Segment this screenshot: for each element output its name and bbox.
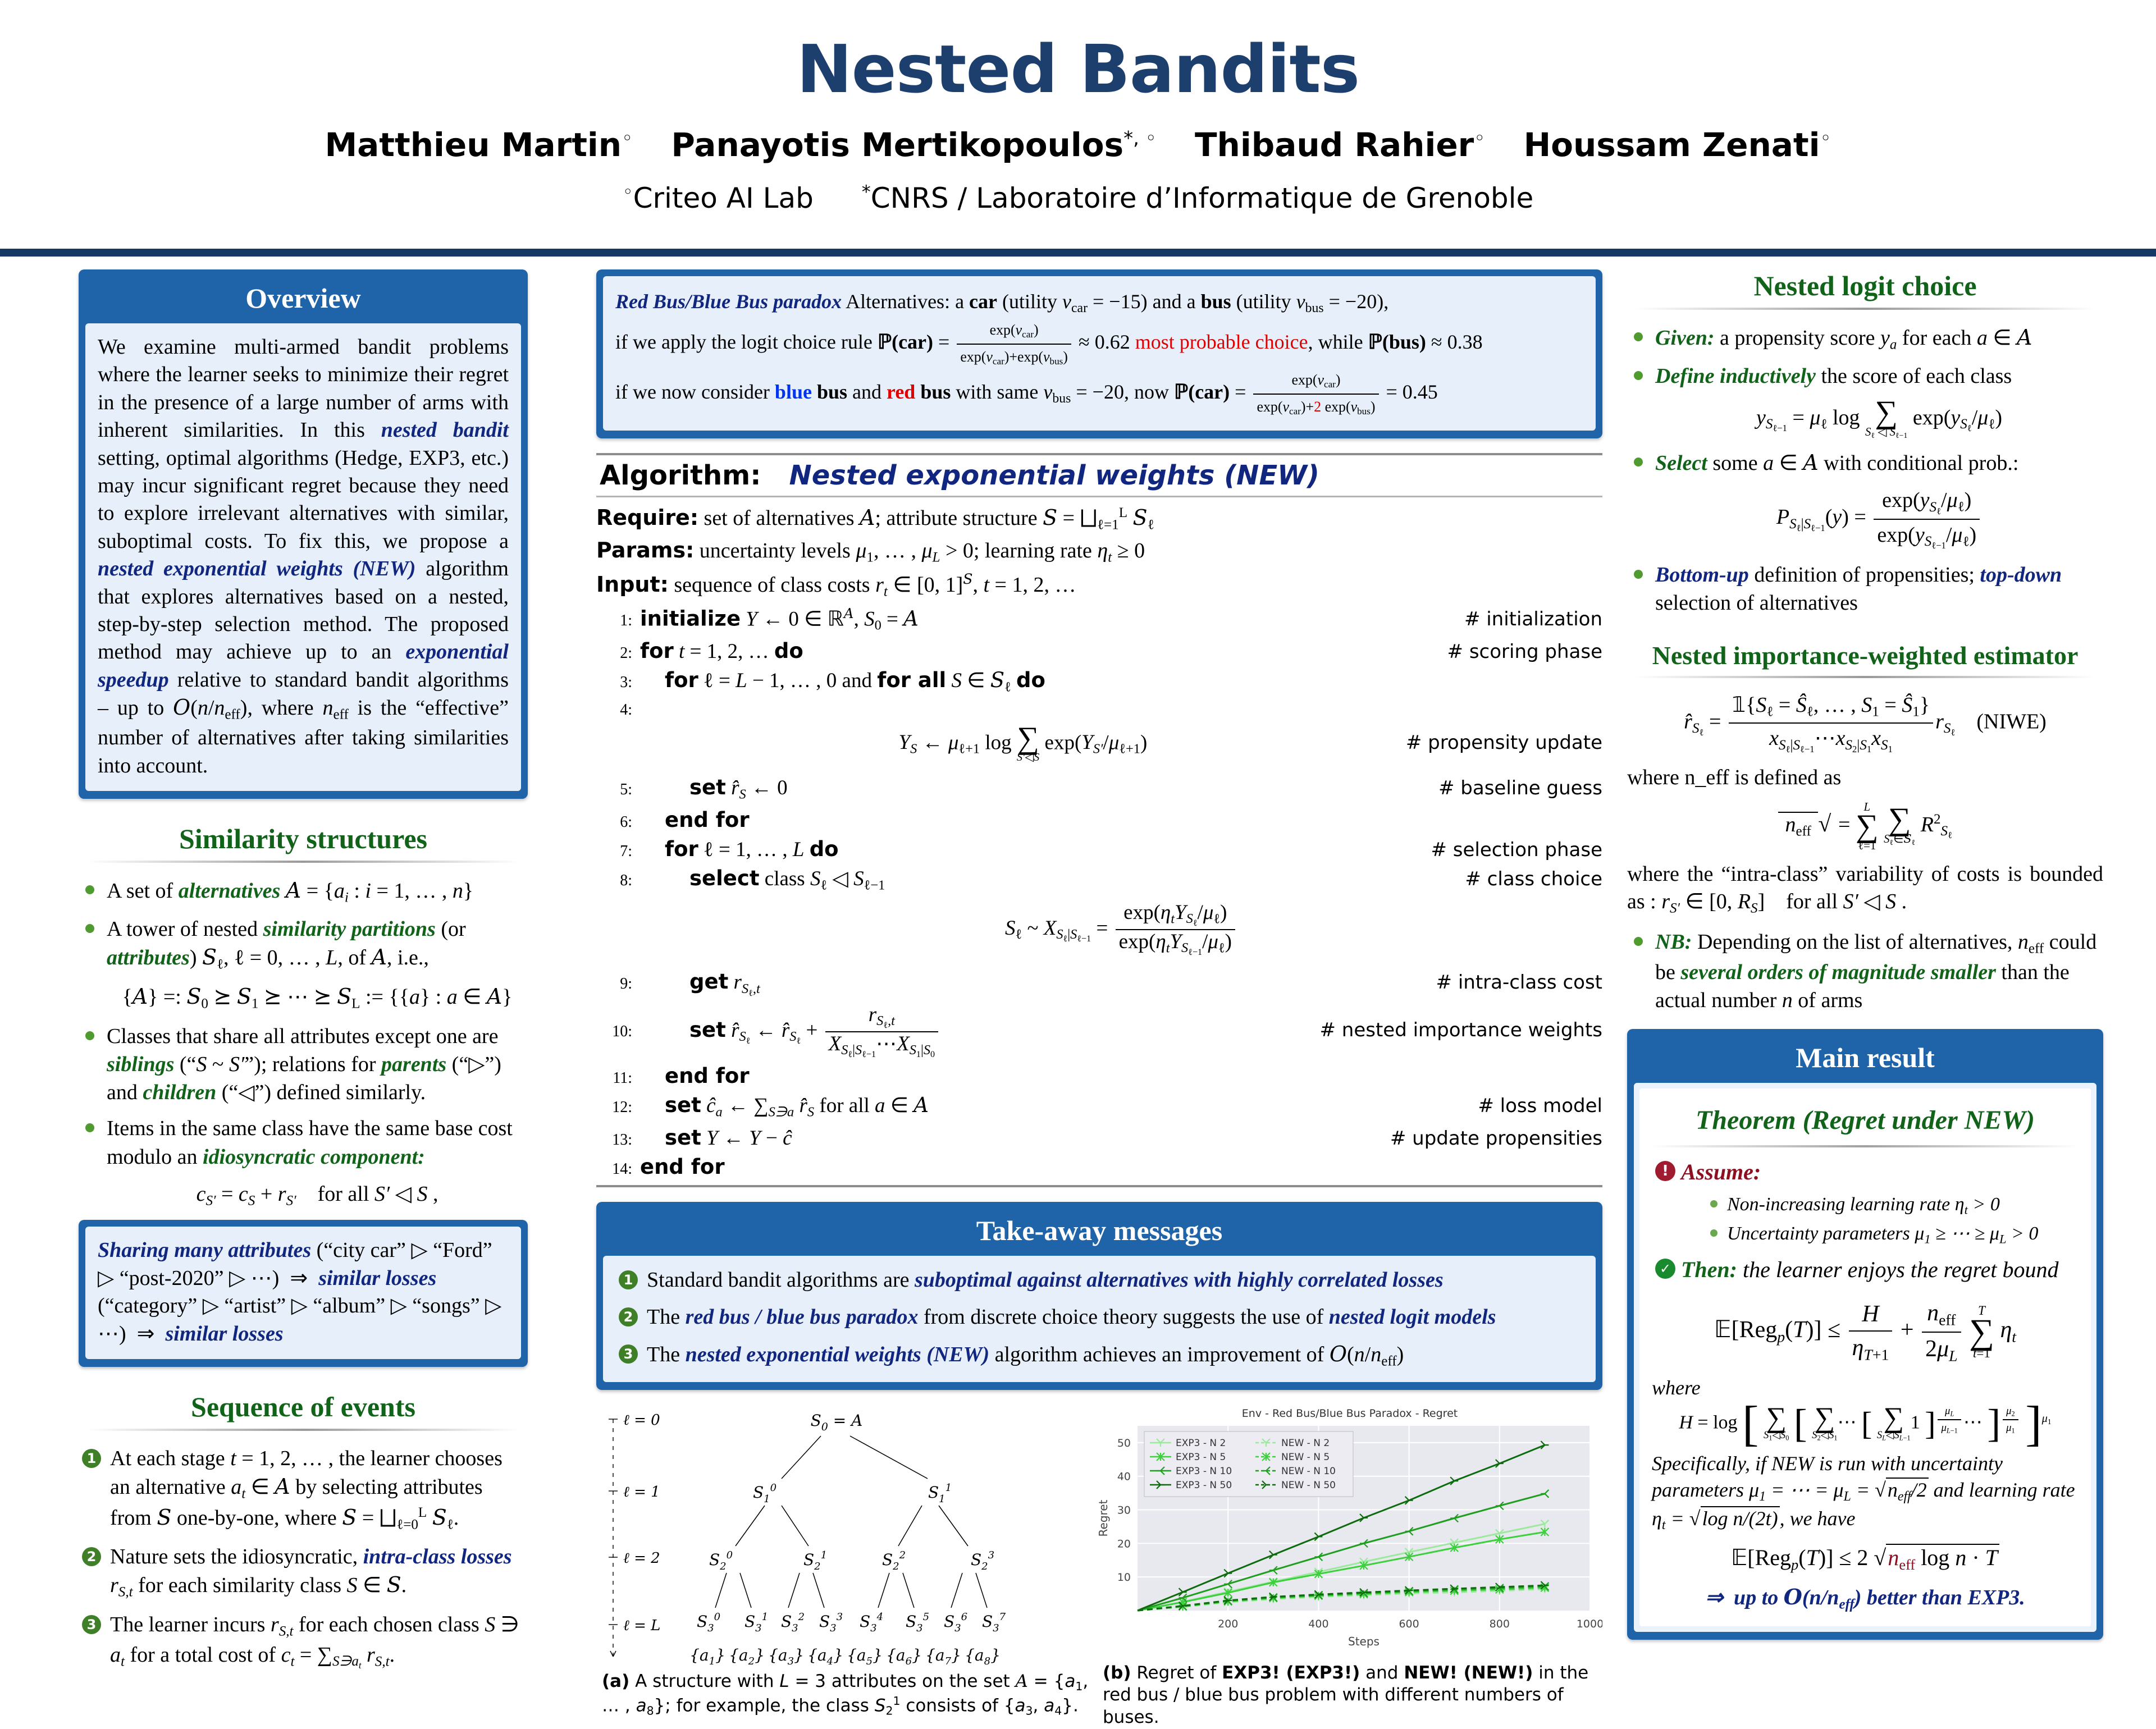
overview-panel: Overview We examine multi-armed bandit p… <box>79 269 528 799</box>
check-icon: ✓ <box>1655 1259 1675 1279</box>
svg-text:1000: 1000 <box>1577 1618 1602 1630</box>
poster-header: Nested Bandits Matthieu Martin◦ Panayoti… <box>0 0 2156 214</box>
svg-text:{a3}: {a3} <box>768 1646 804 1667</box>
list-item: 1 At each stage t = 1, 2, … , the learne… <box>79 1444 528 1534</box>
section-divider <box>86 861 520 863</box>
equation-H: H = log [ ∑S1◁S0 [ ∑S2◁S1⋯ [ ∑SL◁SL−11 ]… <box>1652 1405 2079 1442</box>
svg-text:ℓ = 0: ℓ = 0 <box>623 1412 660 1429</box>
svg-text:S37: S37 <box>982 1611 1006 1634</box>
figures-row: ℓ = 0 ℓ = 1 ℓ = 2 ℓ = L <box>596 1407 1602 1729</box>
algorithm-line: 13:set Y ← Y − ĉ# update propensities <box>596 1123 1602 1152</box>
overview-heading: Overview <box>85 276 521 323</box>
figure-b-caption: (b) Regret of EXP3! (EXP3!) and NEW! (NE… <box>1097 1662 1602 1729</box>
algorithm-panel: Algorithm: Nested exponential weights (N… <box>596 453 1602 1187</box>
regret-chart-svg: 10203040502004006008001000Env - Red Bus/… <box>1097 1407 1602 1662</box>
svg-text:Steps: Steps <box>1348 1635 1380 1648</box>
algorithm-line: 14:end for <box>596 1152 1602 1182</box>
right-column: Nested logit choice Given: a propensity … <box>1627 269 2103 1640</box>
step-number-badge: 2 <box>82 1547 101 1566</box>
list-item: A set of alternatives A = {ai : i = 1, …… <box>79 876 528 907</box>
svg-text:40: 40 <box>1117 1470 1131 1483</box>
svg-text:S36: S36 <box>944 1611 967 1634</box>
tree-diagram: ℓ = 0 ℓ = 1 ℓ = 2 ℓ = L <box>596 1407 1097 1671</box>
equation-cost: cS′ = cS + rS′ for all S′ ◁ S , <box>107 1180 528 1210</box>
algorithm-line: 6:end for <box>596 806 1602 835</box>
section-divider <box>1635 308 2095 310</box>
step-number-badge: 3 <box>619 1344 638 1364</box>
algorithm-line: 1:initialize Y ← 0 ∈ ℝA, S0 = A# initial… <box>596 603 1602 637</box>
svg-text:10: 10 <box>1117 1571 1131 1584</box>
left-column: Overview We examine multi-armed bandit p… <box>79 269 528 1681</box>
author-3: Houssam Zenati◦ <box>1524 126 1831 164</box>
then-row: ✓ Then: the learner enjoys the regret bo… <box>1652 1255 2079 1284</box>
author-list: Matthieu Martin◦ Panayotis Mertikopoulos… <box>0 126 2156 164</box>
svg-text:S30: S30 <box>697 1611 720 1634</box>
list-item: 3 The learner incurs rS,t for each chose… <box>79 1611 528 1672</box>
equation-tower: {A} =: S0 ⪰ S1 ⪰ ⋯ ⪰ SL := {{a} : a ∈ A} <box>107 982 528 1013</box>
affiliation-0: ◦Criteo AI Lab <box>623 182 814 214</box>
assume-row: ! Assume: <box>1652 1158 2079 1187</box>
svg-text:S20: S20 <box>709 1549 733 1572</box>
affiliation-list: ◦Criteo AI Lab *CNRS / Laboratoire d’Inf… <box>0 181 2156 214</box>
paradox-panel: Red Bus/Blue Bus paradox Alternatives: a… <box>596 269 1602 438</box>
svg-text:{a7}: {a7} <box>925 1646 961 1667</box>
algorithm-params: Params: uncertainty levels μ1, … , μL > … <box>596 536 1602 569</box>
svg-text:S22: S22 <box>882 1549 906 1572</box>
svg-text:S0 = A: S0 = A <box>811 1411 863 1433</box>
sequence-list: 1 At each stage t = 1, 2, … , the learne… <box>79 1444 528 1672</box>
list-item: Select some a ∈ A with conditional prob.… <box>1627 449 2103 552</box>
author-0: Matthieu Martin◦ <box>325 126 633 164</box>
algorithm-line: 5:set r̂S ← 0# baseline guess <box>596 773 1602 806</box>
logit-list: Given: a propensity score ya for each a … <box>1627 323 2103 617</box>
equation-niwe: r̂Sℓ = 𝟙{Sℓ = Ŝℓ, … , S1 = Ŝ1}xSℓ|Sℓ−1… <box>1627 692 2103 755</box>
svg-text:50: 50 <box>1117 1437 1131 1449</box>
svg-text:{a4}: {a4} <box>807 1646 843 1667</box>
svg-text:S10: S10 <box>753 1482 776 1505</box>
theorem-title: Theorem (Regret under NEW) <box>1652 1096 2079 1141</box>
affiliation-1: *CNRS / Laboratoire d’Informatique de Gr… <box>862 182 1534 214</box>
svg-text:S35: S35 <box>906 1611 929 1634</box>
svg-text:S33: S33 <box>819 1611 843 1634</box>
svg-text:S11: S11 <box>928 1482 952 1505</box>
figure-a: ℓ = 0 ℓ = 1 ℓ = 2 ℓ = L <box>596 1407 1097 1729</box>
list-item: Define inductively the score of each cla… <box>1627 362 2103 440</box>
algorithm-title: Algorithm: Nested exponential weights (N… <box>596 455 1602 496</box>
svg-text:S23: S23 <box>971 1549 994 1572</box>
step-number-badge: 1 <box>82 1449 101 1468</box>
equation-conditional-prob: PSℓ|Sℓ−1(y) = exp(ySℓ/μℓ)exp(ySℓ−1/μℓ) <box>1655 486 2103 552</box>
svg-text:200: 200 <box>1218 1618 1238 1630</box>
algorithm-line: 2:for t = 1, 2, … do# scoring phase <box>596 637 1602 666</box>
equation-neff: neff √ = L∑ℓ=1 ∑Sℓ∈Sℓ R2Sℓ <box>1627 801 2103 852</box>
svg-text:{a6}: {a6} <box>886 1646 922 1667</box>
svg-text:400: 400 <box>1308 1618 1328 1630</box>
step-number-badge: 2 <box>619 1307 638 1327</box>
main-result-panel: Main result Theorem (Regret under NEW) !… <box>1627 1029 2103 1640</box>
niwe-body: r̂Sℓ = 𝟙{Sℓ = Ŝℓ, … , S1 = Ŝ1}xSℓ|Sℓ−1… <box>1627 692 2103 1014</box>
svg-text:{a8}: {a8} <box>965 1646 1001 1667</box>
algorithm-line: 8:select class Sℓ ◁ Sℓ−1# class choice <box>596 864 1602 896</box>
svg-text:NEW - N 50: NEW - N 50 <box>1281 1480 1336 1491</box>
section-divider <box>1652 1145 2079 1147</box>
list-item: A tower of nested similarity partitions … <box>79 915 528 1013</box>
svg-text:S21: S21 <box>803 1549 827 1572</box>
niwe-nb-list: NB: Depending on the list of alternative… <box>1627 928 2103 1014</box>
where-label: where <box>1652 1375 2079 1401</box>
svg-text:Env - Red Bus/Blue Bus Paradox: Env - Red Bus/Blue Bus Paradox - Regret <box>1242 1407 1458 1420</box>
list-item: Non-increasing learning rate ηt > 0 <box>1706 1192 2079 1218</box>
algorithm-line: 10: set r̂Sℓ ← r̂Sℓ + rSℓ,tXSℓ|Sℓ−1⋯XS1|… <box>596 1002 1602 1062</box>
svg-text:NEW - N 5: NEW - N 5 <box>1281 1452 1330 1463</box>
svg-text:20: 20 <box>1117 1538 1131 1550</box>
logit-heading: Nested logit choice <box>1627 269 2103 302</box>
similarity-heading: Similarity structures <box>79 822 528 855</box>
equation-regret-bound-1: 𝔼[Regp(T)] ≤ HηT+1 + neff2μL T∑t=1 ηt <box>1652 1298 2079 1366</box>
list-item: Uncertainty parameters μ1 ≥ ⋯ ≥ μL > 0 <box>1706 1222 2079 1247</box>
list-item: 2 Nature sets the idiosyncratic, intra-c… <box>79 1543 528 1602</box>
algorithm-line: 11:end for <box>596 1062 1602 1091</box>
svg-text:S31: S31 <box>744 1611 768 1634</box>
svg-text:ℓ = 2: ℓ = 2 <box>623 1550 660 1567</box>
sharing-attributes-panel: Sharing many attributes (“city car” ▷ “F… <box>79 1220 528 1367</box>
figure-a-caption: (a) A structure with L = 3 attributes on… <box>596 1671 1097 1718</box>
tree-svg: ℓ = 0 ℓ = 1 ℓ = 2 ℓ = L <box>596 1407 1090 1671</box>
theorem-box: Theorem (Regret under NEW) ! Assume: Non… <box>1639 1088 2091 1626</box>
main-result-heading: Main result <box>1634 1036 2096 1083</box>
middle-column: Red Bus/Blue Bus paradox Alternatives: a… <box>596 269 1602 1729</box>
takeaway-panel: Take-away messages 1Standard bandit algo… <box>596 1202 1602 1390</box>
svg-text:Regret: Regret <box>1097 1499 1110 1536</box>
svg-text:S34: S34 <box>860 1611 883 1634</box>
figure-b: 10203040502004006008001000Env - Red Bus/… <box>1097 1407 1602 1729</box>
step-number-badge: 1 <box>619 1270 638 1289</box>
svg-text:EXP3 - N 2: EXP3 - N 2 <box>1176 1438 1226 1449</box>
takeaway-heading: Take-away messages <box>603 1209 1596 1256</box>
list-item: Given: a propensity score ya for each a … <box>1627 323 2103 354</box>
equation-class-score: ySℓ−1 = μℓ log ∑Sℓ ◁ Sℓ−1 exp(ySℓ/μℓ) <box>1655 399 2103 440</box>
svg-text:NEW - N 2: NEW - N 2 <box>1281 1438 1330 1449</box>
alert-icon: ! <box>1655 1161 1675 1181</box>
list-item: Bottom-up definition of propensities; to… <box>1627 561 2103 617</box>
equation-regret-bound-2: 𝔼[Regp(T)] ≤ 2 √neff log n · T <box>1652 1543 2079 1574</box>
similarity-list: A set of alternatives A = {ai : i = 1, …… <box>79 876 528 1210</box>
page-title: Nested Bandits <box>0 0 2156 104</box>
svg-text:600: 600 <box>1399 1618 1419 1630</box>
algorithm-line: 9:get rSℓ,t# intra-class cost <box>596 967 1602 1001</box>
svg-text:S32: S32 <box>781 1611 805 1634</box>
svg-text:EXP3 - N 10: EXP3 - N 10 <box>1176 1466 1232 1477</box>
header-divider <box>0 249 2156 257</box>
assume-list: Non-increasing learning rate ηt > 0 Unce… <box>1706 1192 2079 1247</box>
list-item: 1Standard bandit algorithms are suboptim… <box>615 1266 1583 1294</box>
svg-text:EXP3 - N 50: EXP3 - N 50 <box>1176 1480 1232 1491</box>
takeaway-body: 1Standard bandit algorithms are suboptim… <box>603 1256 1596 1382</box>
algorithm-body: Require: set of alternatives A; attribut… <box>596 497 1602 1182</box>
author-1: Panayotis Mertikopoulos*, ◦ <box>671 126 1156 164</box>
algorithm-equation-4: YS ← μℓ+1 log ∑S′◁S exp(YS′/μℓ+1) # prop… <box>596 722 1602 774</box>
conclusion-text: ⇒ up to O(n/neff) better than EXP3. <box>1652 1583 2079 1614</box>
svg-text:ℓ = 1: ℓ = 1 <box>623 1484 660 1501</box>
specific-text: Specifically, if NEW is run with uncerta… <box>1652 1451 2079 1534</box>
overview-body: We examine multi-armed bandit problems w… <box>85 323 521 791</box>
author-2: Thibaud Rahier◦ <box>1195 126 1485 164</box>
algorithm-bottom-rule <box>596 1185 1602 1187</box>
section-divider <box>1635 676 2095 678</box>
svg-text:{a1}: {a1} <box>689 1646 725 1667</box>
svg-text:{a2}: {a2} <box>729 1646 765 1667</box>
sharing-attributes-body: Sharing many attributes (“city car” ▷ “F… <box>85 1227 521 1359</box>
sequence-heading: Sequence of events <box>79 1390 528 1423</box>
main-result-body: Theorem (Regret under NEW) ! Assume: Non… <box>1634 1083 2096 1632</box>
svg-text:ℓ = L: ℓ = L <box>623 1617 660 1634</box>
svg-text:NEW - N 10: NEW - N 10 <box>1281 1466 1336 1477</box>
algorithm-line: 3:for ℓ = L − 1, … , 0 and for all S ∈ S… <box>596 666 1602 698</box>
algorithm-input: Input: sequence of class costs rt ∈ [0, … <box>596 568 1602 602</box>
algorithm-equation-8: Sℓ ~ XSℓ|Sℓ−1 = exp(ηtYSℓ/μℓ)exp(ηtYSℓ−1… <box>596 896 1602 968</box>
algorithm-require: Require: set of alternatives A; attribut… <box>596 502 1602 536</box>
paradox-body: Red Bus/Blue Bus paradox Alternatives: a… <box>603 276 1596 431</box>
niwe-where-2: where the “intra-class” variability of c… <box>1627 861 2103 918</box>
algorithm-line: 12:set ĉa ← ∑S∋a r̂S for all a ∈ A# los… <box>596 1091 1602 1123</box>
step-number-badge: 3 <box>82 1615 101 1634</box>
svg-text:{a5}: {a5} <box>847 1646 883 1667</box>
list-item: NB: Depending on the list of alternative… <box>1627 928 2103 1014</box>
svg-text:30: 30 <box>1117 1504 1131 1516</box>
algorithm-line: 4: <box>596 698 1602 722</box>
list-item: 3The nested exponential weights (NEW) al… <box>615 1340 1583 1371</box>
list-item: Items in the same class have the same ba… <box>79 1114 528 1210</box>
svg-text:EXP3 - N 5: EXP3 - N 5 <box>1176 1452 1226 1463</box>
section-divider <box>86 1429 520 1431</box>
niwe-where-1: where n_eff is defined as <box>1627 764 2103 792</box>
niwe-heading: Nested importance-weighted estimator <box>1627 641 2103 670</box>
regret-chart: 10203040502004006008001000Env - Red Bus/… <box>1097 1407 1602 1662</box>
list-item: 2The red bus / blue bus paradox from dis… <box>615 1303 1583 1331</box>
algorithm-line: 7:for ℓ = 1, … , L do# selection phase <box>596 835 1602 864</box>
svg-text:800: 800 <box>1490 1618 1510 1630</box>
list-item: Classes that share all attributes except… <box>79 1022 528 1106</box>
